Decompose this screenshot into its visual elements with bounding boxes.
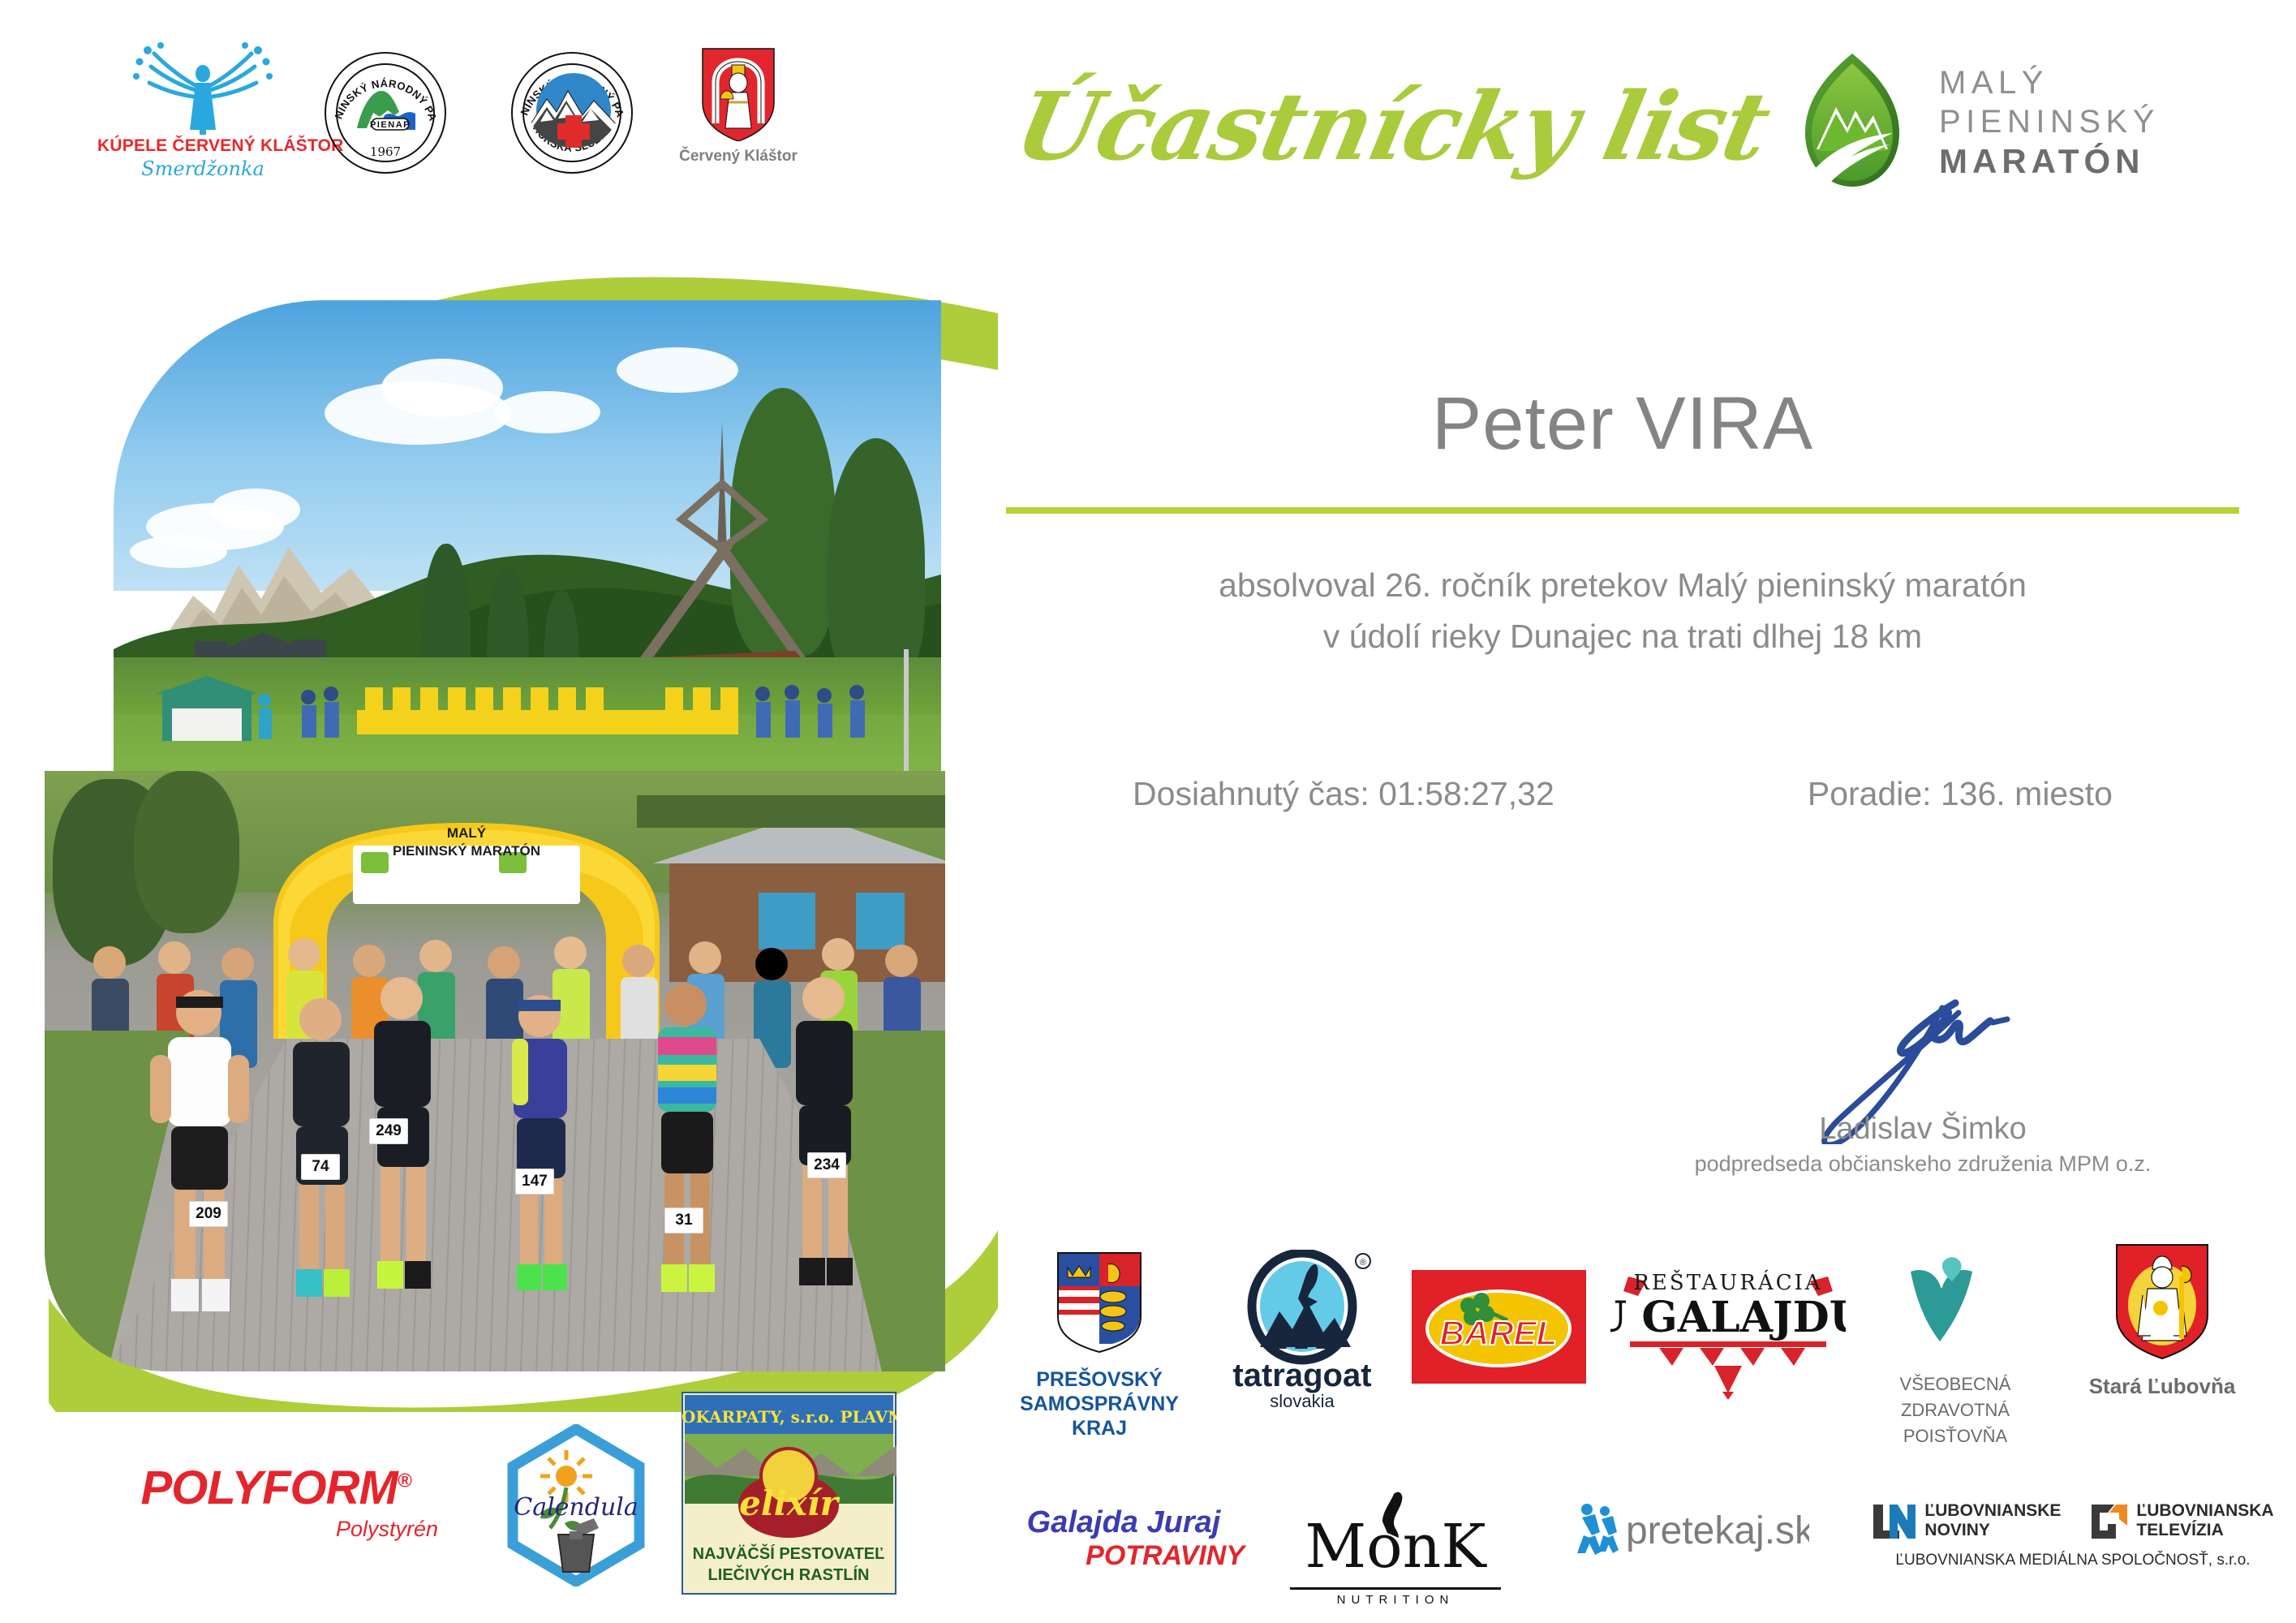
placement: Poradie: 136. miesto bbox=[1808, 775, 2113, 813]
stara-lubovna-shield-icon bbox=[2113, 1242, 2211, 1363]
svg-text:BAREL: BAREL bbox=[1440, 1314, 1558, 1352]
arch-line-2: PIENINSKÝ MARATÓN bbox=[365, 842, 568, 860]
vszp-caption: VŠEOBECNÁ ZDRAVOTNÁ POISŤOVŇA bbox=[1870, 1371, 2040, 1449]
photo-race-start: MALÝ PIENINSKÝ MARATÓN bbox=[45, 771, 945, 1371]
photo-festival-scene bbox=[114, 300, 941, 820]
sponsor-lubovnianska-media: ĽUBOVNIANSKE NOVINY ĽUBOVNIANSKA TELEVÍZ… bbox=[1862, 1501, 2284, 1569]
partner-logos-top: KÚPELE ČERVENÝ KLÁŠTOR Smerdžonka PIENIN… bbox=[81, 41, 957, 227]
svg-text:LIEČIVÝCH RASTLÍN: LIEČIVÝCH RASTLÍN bbox=[708, 1565, 870, 1584]
certificate-body-line-1: absolvoval 26. ročník pretekov Malý pien… bbox=[1006, 560, 2239, 611]
arch-line-1: MALÝ bbox=[365, 824, 568, 842]
lubovnianska-televizia: ĽUBOVNIANSKA TELEVÍZIA bbox=[2088, 1501, 2273, 1540]
pienap-year: 1967 bbox=[326, 144, 445, 159]
ln-mark-icon bbox=[1872, 1501, 1919, 1540]
results-row: Dosiahnutý čas: 01:58:27,32 Poradie: 136… bbox=[1006, 775, 2239, 813]
kupele-line1: KÚPELE ČERVENÝ KLÁŠTOR bbox=[97, 136, 308, 156]
ltv-mark-icon bbox=[2088, 1501, 2130, 1540]
signatory-name: Ladislav Šimko bbox=[1639, 1006, 2207, 1147]
runner-bib: 147 bbox=[515, 1169, 554, 1195]
polyform-wordmark: POLYFORM® bbox=[105, 1461, 446, 1515]
svg-text:AGROKARPATY, s.r.o. PLAVNICA: AGROKARPATY, s.r.o. PLAVNICA bbox=[681, 1407, 896, 1427]
galajda-juraj-name: Galajda Juraj bbox=[998, 1505, 1249, 1540]
placement-value: 136. miesto bbox=[1941, 775, 2113, 812]
runner-bib: 74 bbox=[301, 1154, 340, 1180]
cerveny-klastor-caption: Červený Kláštor bbox=[665, 148, 811, 166]
registered-icon: ® bbox=[398, 1470, 411, 1492]
runner-bib: 209 bbox=[189, 1201, 228, 1227]
monk-icon: MonK bbox=[1290, 1489, 1501, 1586]
certificate-body: absolvoval 26. ročník pretekov Malý pien… bbox=[1006, 560, 2239, 662]
svg-text:NAJVÄČŠÍ PESTOVATEĽ: NAJVÄČŠÍ PESTOVATEĽ bbox=[693, 1543, 885, 1563]
photo-collage: MALÝ PIENINSKÝ MARATÓN bbox=[45, 268, 945, 1404]
stara-lubovna-caption: Stará Ľubovňa bbox=[2077, 1374, 2247, 1399]
pretekaj-runner-icon: pretekaj.sk bbox=[1566, 1501, 1809, 1558]
presovsky-kraj-shield-icon bbox=[1055, 1250, 1144, 1355]
sponsor-calendula: Calendula bbox=[495, 1424, 657, 1586]
runner-bib: 31 bbox=[664, 1208, 703, 1233]
vszp-icon bbox=[1894, 1254, 2016, 1359]
svg-text:Calendula: Calendula bbox=[514, 1493, 638, 1522]
presovsky-kraj-caption: PREŠOVSKÝ SAMOSPRÁVNY KRAJ bbox=[1002, 1367, 1197, 1440]
svg-text:PIENAP: PIENAP bbox=[370, 120, 411, 130]
finish-time: Dosiahnutý čas: 01:58:27,32 bbox=[1133, 775, 1554, 813]
leaf-mountain-icon bbox=[1781, 49, 1923, 191]
runners-foreground bbox=[118, 974, 896, 1355]
brand-line-1: MALÝ bbox=[1939, 63, 2160, 102]
sponsor-pretekaj: pretekaj.sk bbox=[1566, 1501, 1809, 1562]
participant-name: Peter VIRA bbox=[1006, 381, 2239, 467]
signatory-role: podpredseda občianskeho združenia MPM o.… bbox=[1639, 1152, 2207, 1177]
agrokarpaty-elixir-icon: AGROKARPATY, s.r.o. PLAVNICA elixír NAJV… bbox=[681, 1392, 896, 1595]
kupele-line2: Smerdžonka bbox=[97, 157, 308, 180]
sponsor-u-galajdu: REŠTAURÁCIA U GALAJDU bbox=[1610, 1262, 1846, 1404]
brand-wordmark: MALÝ PIENINSKÝ MARATÓN bbox=[1939, 63, 2160, 182]
finish-time-value: 01:58:27,32 bbox=[1378, 775, 1554, 812]
cerveny-klastor-shield-icon bbox=[699, 45, 777, 141]
sponsor-galajda-juraj: Galajda Juraj POTRAVINY bbox=[998, 1505, 1249, 1572]
svg-text:®: ® bbox=[1360, 1258, 1366, 1268]
svg-text:MonK: MonK bbox=[1305, 1512, 1487, 1582]
horska-sluzba-seal: PIENINSKÝ NÁRODNÝ PARK HORSKÁ SLUŽBA bbox=[511, 52, 633, 174]
tatragoat-icon: ® tatragoat slovakia bbox=[1225, 1250, 1379, 1412]
signature-block: Ladislav Šimko podpredseda občianskeho z… bbox=[1639, 1006, 2207, 1177]
horska-sluzba-mountain-icon bbox=[529, 73, 618, 148]
certificate-body-line-2: v údolí rieky Dunajec na trati dlhej 18 … bbox=[1006, 611, 2239, 662]
polyform-tagline: Polystyrén bbox=[105, 1517, 446, 1542]
pienap-mountain-icon: PIENAP bbox=[354, 83, 420, 133]
svg-text:U GALAJDU: U GALAJDU bbox=[1610, 1293, 1846, 1342]
pienap-seal: PIENINSKÝ NÁRODNÝ PARK PIENAP 1967 bbox=[325, 52, 446, 174]
sponsor-stara-lubovna: Stará Ľubovňa bbox=[2077, 1242, 2247, 1399]
sponsor-tatragoat: ® tatragoat slovakia bbox=[1209, 1250, 1395, 1416]
page-title: Účastnícky list bbox=[1005, 67, 1761, 188]
lubovnianske-noviny: ĽUBOVNIANSKE NOVINY bbox=[1872, 1501, 2061, 1540]
logo-horska-sluzba: PIENINSKÝ NÁRODNÝ PARK HORSKÁ SLUŽBA bbox=[511, 52, 641, 174]
calendula-hex-icon: Calendula bbox=[495, 1424, 657, 1586]
brand-line-3: MARATÓN bbox=[1939, 141, 2160, 182]
logo-cerveny-klastor-coat: Červený Kláštor bbox=[665, 45, 811, 166]
sponsor-monk-nutrition: MonK NUTRITION bbox=[1290, 1489, 1501, 1607]
svg-text:pretekaj.sk: pretekaj.sk bbox=[1626, 1509, 1809, 1552]
placement-label: Poradie: bbox=[1808, 775, 1932, 812]
brand-line-2: PIENINSKÝ bbox=[1939, 102, 2160, 141]
svg-text:tatragoat: tatragoat bbox=[1232, 1358, 1371, 1393]
sponsor-vszp: VŠEOBECNÁ ZDRAVOTNÁ POISŤOVŇA bbox=[1870, 1254, 2040, 1449]
logo-kupele-cerveny-klastor: KÚPELE ČERVENÝ KLÁŠTOR Smerdžonka bbox=[97, 41, 308, 180]
monk-tagline: NUTRITION bbox=[1290, 1587, 1501, 1607]
logo-pienap: PIENINSKÝ NÁRODNÝ PARK PIENAP 1967 bbox=[325, 52, 454, 174]
sponsor-barel: BAREL bbox=[1412, 1270, 1586, 1388]
runner-bib: 234 bbox=[807, 1152, 846, 1178]
svg-text:slovakia: slovakia bbox=[1270, 1391, 1335, 1411]
sponsor-polyform: POLYFORM® Polystyrén bbox=[105, 1461, 446, 1542]
sponsor-agrokarpaty: AGROKARPATY, s.r.o. PLAVNICA elixír NAJV… bbox=[681, 1392, 896, 1595]
green-divider bbox=[1006, 507, 2239, 514]
finish-time-label: Dosiahnutý čas: bbox=[1133, 775, 1369, 812]
u-galajdu-icon: REŠTAURÁCIA U GALAJDU bbox=[1610, 1262, 1846, 1400]
galajda-juraj-tagline: POTRAVINY bbox=[998, 1540, 1249, 1572]
sponsor-presovsky-kraj: PREŠOVSKÝ SAMOSPRÁVNY KRAJ bbox=[1002, 1250, 1197, 1440]
angel-water-icon bbox=[97, 41, 308, 136]
svg-text:REŠTAURÁCIA: REŠTAURÁCIA bbox=[1633, 1269, 1822, 1295]
mpm-brand-logo: MALÝ PIENINSKÝ MARATÓN bbox=[1781, 49, 2284, 191]
runner-bib: 249 bbox=[369, 1118, 408, 1144]
arch-banner-text: MALÝ PIENINSKÝ MARATÓN bbox=[365, 824, 568, 860]
media-company-footer: ĽUBOVNIANSKA MEDIÁLNA SPOLOČNOSŤ, s.r.o. bbox=[1862, 1552, 2284, 1569]
barel-icon: BAREL bbox=[1412, 1270, 1586, 1384]
svg-text:elixír: elixír bbox=[739, 1483, 841, 1523]
